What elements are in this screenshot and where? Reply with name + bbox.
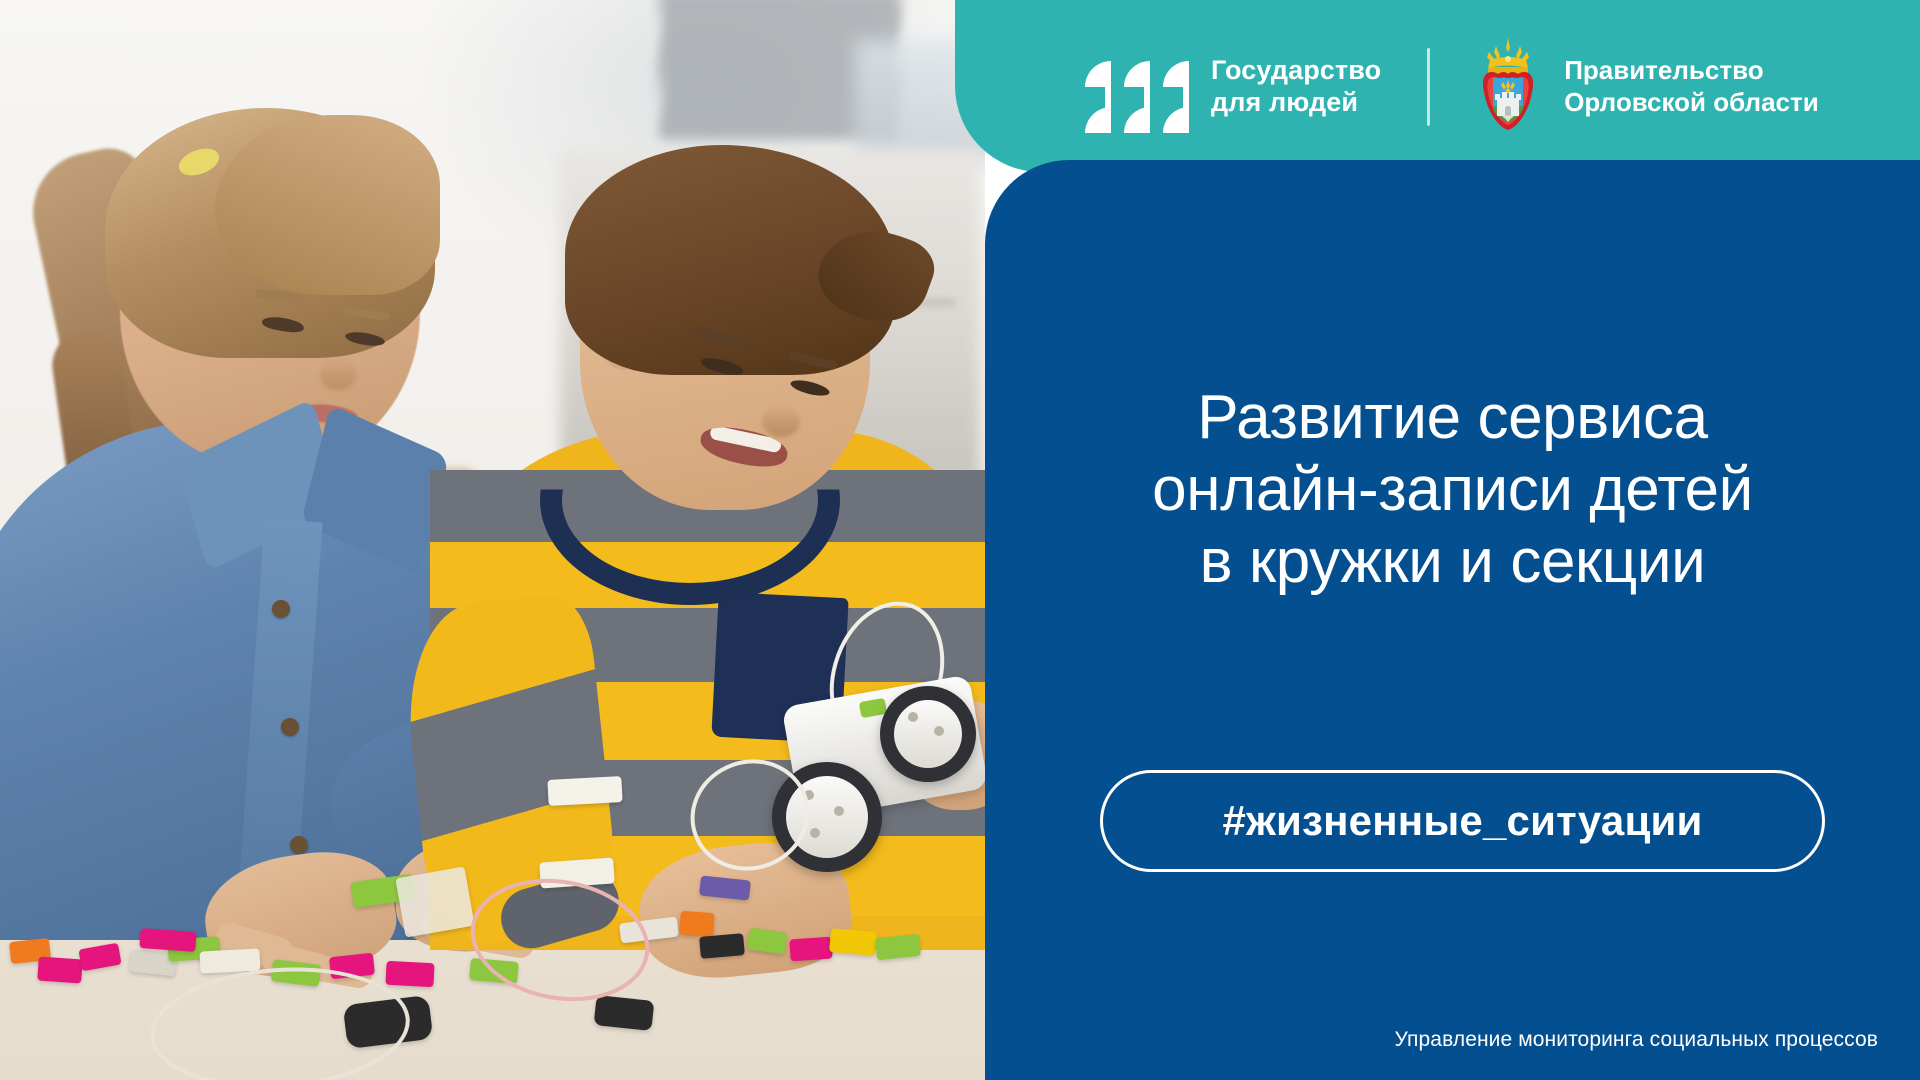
headline-line-1: Развитие сервиса	[1000, 382, 1905, 454]
three-bars-logo-icon	[1085, 41, 1189, 133]
component-block	[829, 928, 877, 956]
headline-line-3: в кружки и секции	[1000, 526, 1905, 598]
girl-hair-front	[215, 115, 440, 295]
component-motor	[594, 995, 655, 1031]
robot-hub-dot	[834, 806, 844, 816]
shirt-button	[272, 600, 290, 618]
girl-nose	[320, 360, 356, 390]
component-block	[37, 956, 83, 983]
boy-nose	[762, 405, 800, 437]
headline-line-2: онлайн-записи детей	[1000, 454, 1905, 526]
component-block	[139, 928, 196, 952]
robot-hub-dot	[810, 828, 820, 838]
logo-divider	[1427, 48, 1430, 126]
shirt-button	[290, 836, 308, 854]
shirt-button	[281, 718, 299, 736]
content-panel	[985, 160, 1920, 1080]
robot-hub	[894, 700, 962, 768]
government-lockup[interactable]: Правительство Орловской области	[1476, 36, 1819, 137]
robot-hub-dot	[934, 726, 944, 736]
brand-lockup[interactable]: Государство для людей	[1085, 41, 1381, 133]
robot-hub-dot	[908, 712, 918, 722]
hero-photo	[0, 0, 985, 1080]
component-block	[875, 934, 921, 960]
orel-oblast-coat-of-arms-icon	[1476, 36, 1540, 137]
component-block	[385, 961, 434, 987]
government-name: Правительство Орловской области	[1564, 55, 1819, 117]
header-logos: Государство для людей	[1085, 36, 1819, 137]
poster-canvas: Государство для людей	[0, 0, 1920, 1080]
robot-wheel-rear	[880, 686, 976, 782]
component-block	[789, 937, 832, 962]
component-panel	[395, 866, 474, 937]
page-title: Развитие сервиса онлайн-записи детей в к…	[1000, 382, 1905, 598]
footer-department: Управление мониторинга социальных процес…	[1395, 1028, 1878, 1052]
component-block	[679, 911, 715, 937]
component-block	[547, 776, 622, 806]
brand-name: Государство для людей	[1211, 55, 1381, 118]
component-block	[699, 933, 745, 959]
hashtag-button[interactable]: #жизненные_ситуации	[1100, 770, 1825, 872]
